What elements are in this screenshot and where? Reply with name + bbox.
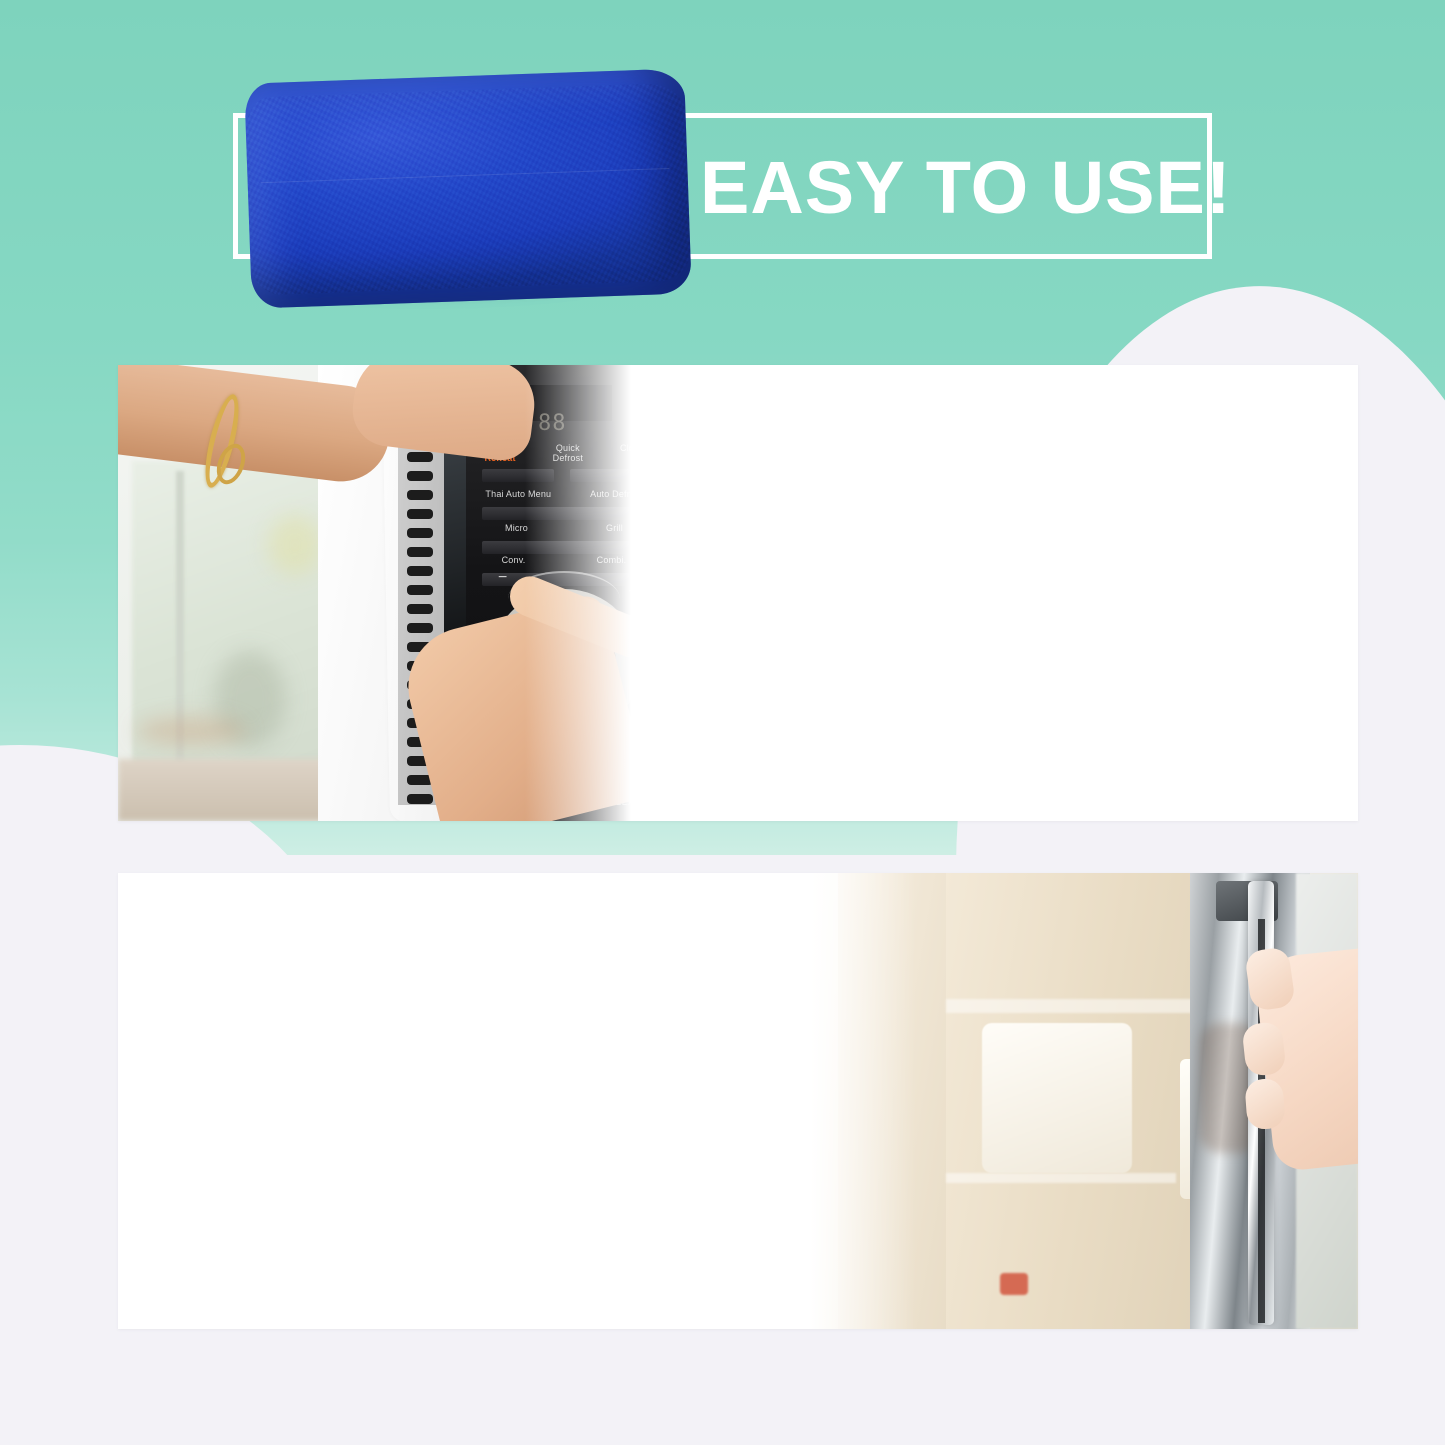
- finger-2: [1241, 1021, 1286, 1077]
- vent-slat: [407, 604, 433, 614]
- product-gel-pack-image: [244, 68, 692, 308]
- photo-fade-right: [525, 365, 645, 821]
- vent-slat: [407, 452, 433, 462]
- vent-slat: [407, 794, 433, 804]
- vent-slat: [407, 509, 433, 519]
- product-body: [244, 68, 692, 308]
- vent-slat: [407, 623, 433, 633]
- card-chill-freezer: CHILL IN THE FREEZER Relieve injured mus…: [118, 873, 1358, 1329]
- dial-minus-icon: −: [498, 569, 507, 587]
- vent-slat: [407, 585, 433, 595]
- fleece-texture: [245, 82, 692, 295]
- page-title: EASY TO USE!: [700, 137, 1200, 237]
- vent-slat: [407, 528, 433, 538]
- finger-3: [1244, 1078, 1285, 1131]
- background-blur-3: [136, 717, 246, 745]
- card-heat-microwave: 88 CrispyReheat QuickDefrost Clock Thai …: [118, 365, 1358, 821]
- microwave-photo: 88 CrispyReheat QuickDefrost Clock Thai …: [118, 365, 645, 821]
- freezer-container: [982, 1023, 1132, 1173]
- background-blur-2: [268, 515, 322, 575]
- vent-slat: [407, 566, 433, 576]
- button-conv: Conv.: [502, 555, 526, 565]
- freezer-photo: [796, 873, 1358, 1329]
- freezer-shelf-lower: [946, 1173, 1176, 1183]
- infographic-page: EASY TO USE!: [0, 0, 1445, 1445]
- vent-slat: [407, 547, 433, 557]
- freezer-red-item: [1000, 1273, 1028, 1295]
- photo-fade-left: [796, 873, 916, 1329]
- vent-slat: [407, 490, 433, 500]
- vent-slat: [407, 471, 433, 481]
